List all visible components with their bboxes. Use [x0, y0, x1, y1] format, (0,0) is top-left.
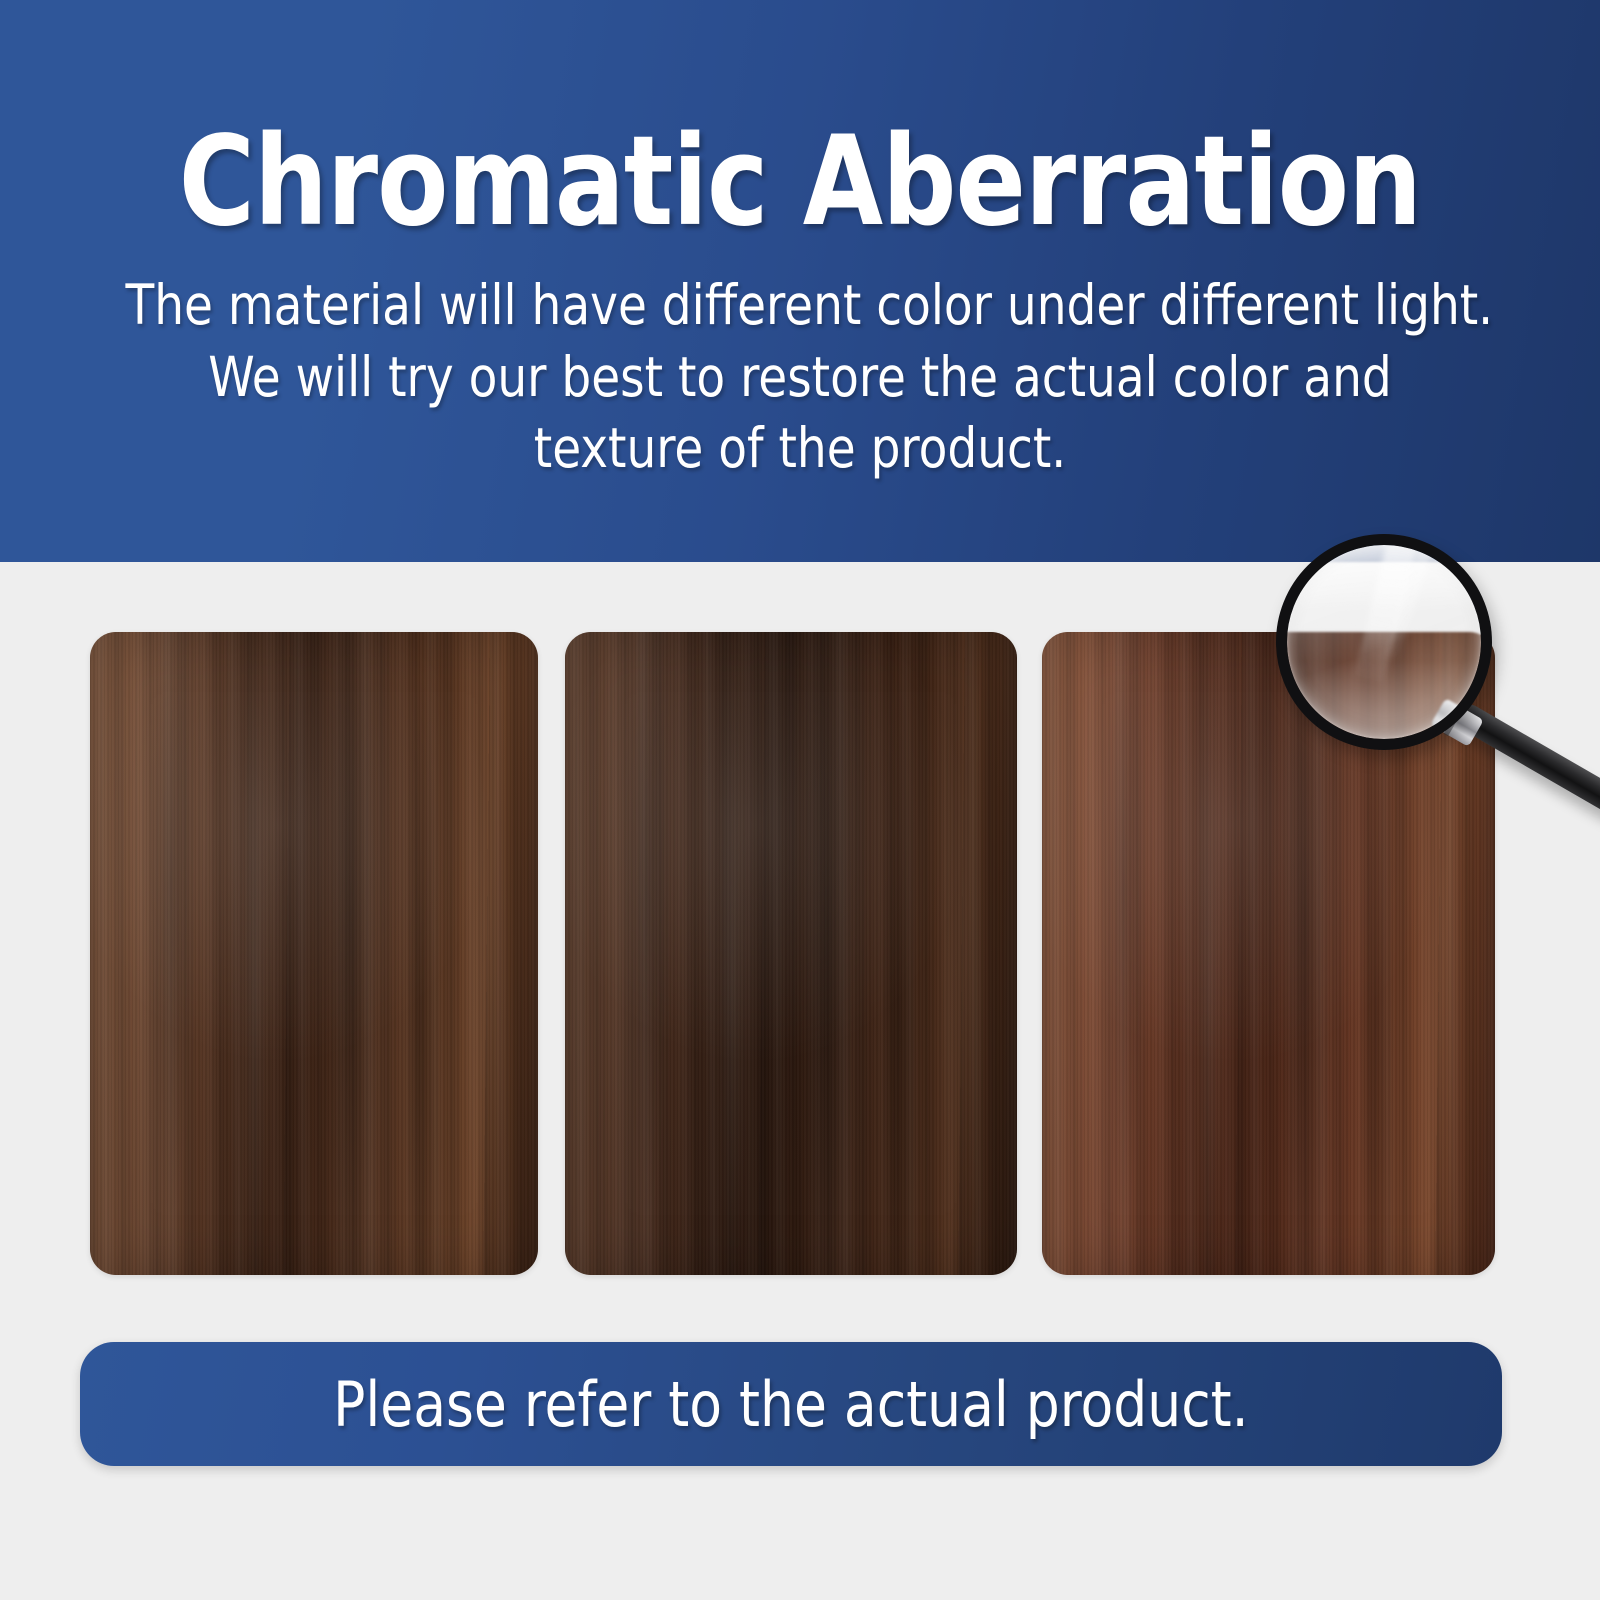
wood-vignette-center — [565, 632, 1017, 1275]
subtitle-line-3: texture of the product. — [126, 413, 1475, 485]
footer-banner: Please refer to the actual product. — [80, 1342, 1502, 1466]
subtitle-line-2: We will try our best to restore the actu… — [126, 342, 1475, 414]
page-title: Chromatic Aberration — [179, 120, 1421, 244]
wood-vignette-right — [1042, 632, 1495, 1275]
infographic-canvas: Chromatic Aberration The material will h… — [0, 0, 1600, 1600]
wood-vignette-left — [90, 632, 538, 1275]
wood-swatch-right — [1042, 632, 1495, 1275]
header-content: Chromatic Aberration The material will h… — [0, 0, 1600, 562]
swatch-row — [0, 562, 1600, 1322]
footer-banner-text: Please refer to the actual product. — [333, 1368, 1249, 1441]
wood-swatch-center — [565, 632, 1017, 1275]
wood-swatch-left — [90, 632, 538, 1275]
header-banner: Chromatic Aberration The material will h… — [0, 0, 1600, 562]
header-subtitle: The material will have different color u… — [126, 270, 1475, 485]
subtitle-line-1: The material will have different color u… — [126, 270, 1475, 342]
